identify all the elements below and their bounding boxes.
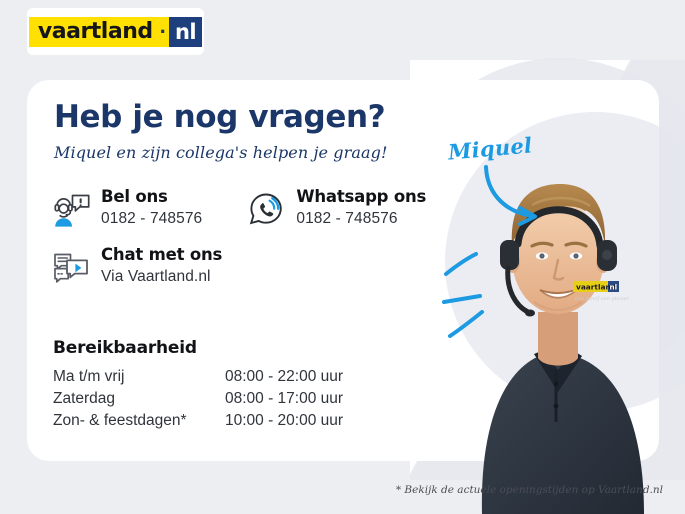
contact-call-text: Bel ons 0182 - 748576: [101, 188, 202, 228]
footnote: * Bekijk de actuele openingstijden op Va…: [396, 484, 663, 496]
contact-whatsapp-title: Whatsapp ons: [296, 187, 426, 206]
contact-row: Chat met ons Via Vaartland.nl: [50, 246, 450, 288]
contact-call-title: Bel ons: [101, 187, 168, 206]
contact-whatsapp-text: Whatsapp ons 0182 - 748576: [296, 188, 426, 228]
logo-dot: ·: [160, 17, 169, 47]
svg-text:nl: nl: [610, 282, 618, 291]
hours-row: Ma t/m vrij 08:00 - 22:00 uur: [53, 366, 343, 388]
hours-label: Ma t/m vrij: [53, 366, 225, 388]
contact-call[interactable]: Bel ons 0182 - 748576: [50, 188, 245, 230]
contact-row: Bel ons 0182 - 748576 Whatsapp ons 0182 …: [50, 188, 450, 230]
hours-row: Zon- & feestdagen* 10:00 - 20:00 uur: [53, 410, 343, 432]
promo-banner: vaartland · nl Heb je nog vragen? Miquel…: [0, 0, 685, 514]
hours-label: Zon- & feestdagen*: [53, 410, 225, 432]
logo-wordmark: vaartland: [29, 17, 160, 47]
svg-text:doe jezelf een plezier: doe jezelf een plezier: [575, 296, 630, 302]
headset-person-icon: [50, 188, 92, 230]
accent-strokes-icon: [442, 248, 502, 338]
contact-call-value: 0182 - 748576: [101, 210, 202, 228]
vaartland-logo[interactable]: vaartland · nl: [27, 8, 204, 55]
page-title: Heb je nog vragen?: [54, 101, 385, 134]
logo-tld: nl: [169, 17, 202, 47]
contact-chat-value: Via Vaartland.nl: [101, 268, 222, 286]
contact-options: Bel ons 0182 - 748576 Whatsapp ons 0182 …: [50, 188, 450, 288]
hours-label: Zaterdag: [53, 388, 225, 410]
hours-value: 08:00 - 22:00 uur: [225, 366, 343, 388]
contact-whatsapp[interactable]: Whatsapp ons 0182 - 748576: [245, 188, 450, 230]
contact-chat-title: Chat met ons: [101, 245, 222, 264]
hours-value: 08:00 - 17:00 uur: [225, 388, 343, 410]
pointer-arrow-icon: [480, 163, 550, 229]
contact-chat-text: Chat met ons Via Vaartland.nl: [101, 246, 222, 286]
hours-title: Bereikbaarheid: [53, 338, 197, 358]
hours-value: 10:00 - 20:00 uur: [225, 410, 343, 432]
contact-whatsapp-value: 0182 - 748576: [296, 210, 426, 228]
logo-lockup: vaartland · nl: [29, 17, 202, 47]
page-subtitle: Miquel en zijn collega's helpen je graag…: [54, 143, 388, 162]
contact-chat[interactable]: Chat met ons Via Vaartland.nl: [50, 246, 260, 288]
whatsapp-icon: [245, 188, 287, 230]
hours-row: Zaterdag 08:00 - 17:00 uur: [53, 388, 343, 410]
chat-bubbles-icon: [50, 246, 92, 288]
hours-table: Ma t/m vrij 08:00 - 22:00 uur Zaterdag 0…: [53, 366, 343, 432]
